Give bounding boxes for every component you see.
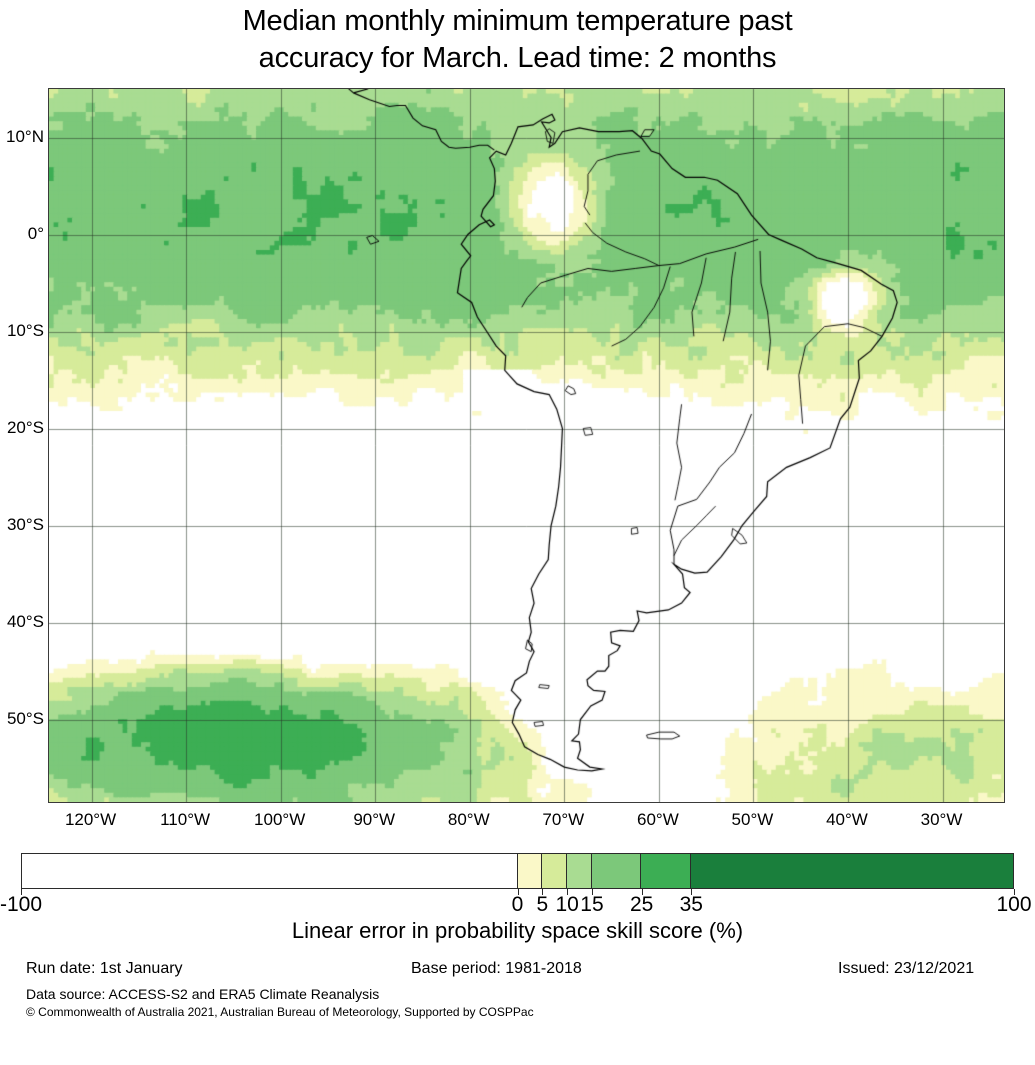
colorbar-tick-label: 25 (630, 893, 653, 917)
copyright-text: © Commonwealth of Australia 2021, Austra… (26, 1005, 534, 1019)
colorbar-tick-label: 10 (555, 893, 578, 917)
colorbar-segment (641, 854, 691, 888)
colorbar-segment (567, 854, 592, 888)
base-period-text: Base period: 1981-2018 (411, 960, 582, 978)
longitude-tick-label: 80°W (448, 810, 490, 830)
page-title: Median monthly minimum temperature past … (0, 0, 1035, 77)
latitude-tick-label: 0° (0, 224, 44, 244)
longitude-tick-label: 110°W (160, 810, 210, 830)
colorbar-tick-label: 0 (512, 893, 524, 917)
colorbar-tick-label: 35 (680, 893, 703, 917)
colorbar-segment (592, 854, 642, 888)
longitude-tick-label: 70°W (542, 810, 584, 830)
footer: Run date: 1st January Base period: 1981-… (0, 960, 1035, 984)
latitude-tick-label: 30°S (0, 515, 44, 535)
colorbar-title: Linear error in probability space skill … (0, 918, 1035, 944)
colorbar-segment (542, 854, 567, 888)
colorbar-segment (691, 854, 1013, 888)
colorbar-segment (518, 854, 543, 888)
longitude-tick-label: 100°W (254, 810, 305, 830)
colorbar-tick-label: 15 (580, 893, 603, 917)
issued-date-text: Issued: 23/12/2021 (838, 960, 974, 978)
colorbar-tick-label: -100 (0, 893, 42, 917)
longitude-tick-label: 50°W (732, 810, 774, 830)
latitude-tick-label: 40°S (0, 612, 44, 632)
footer-meta-row: Run date: 1st January Base period: 1981-… (0, 960, 1035, 984)
skill-score-heatmap (49, 89, 1004, 802)
colorbar-tick-label: 100 (996, 893, 1031, 917)
latitude-tick-label: 20°S (0, 418, 44, 438)
map-plot-area (48, 88, 1005, 803)
longitude-tick-label: 40°W (826, 810, 868, 830)
latitude-tick-label: 10°N (0, 127, 44, 147)
longitude-tick-label: 60°W (637, 810, 679, 830)
run-date-text: Run date: 1st January (26, 960, 183, 978)
colorbar (21, 853, 1014, 889)
longitude-tick-label: 120°W (65, 810, 116, 830)
colorbar-segment (22, 854, 518, 888)
longitude-tick-label: 30°W (921, 810, 963, 830)
colorbar-tick-label: 5 (536, 893, 548, 917)
page-title-line-2: accuracy for March. Lead time: 2 months (0, 40, 1035, 77)
latitude-tick-label: 10°S (0, 321, 44, 341)
latitude-tick-label: 50°S (0, 709, 44, 729)
page-title-line-1: Median monthly minimum temperature past (0, 3, 1035, 40)
data-source-text: Data source: ACCESS-S2 and ERA5 Climate … (26, 986, 379, 1002)
longitude-tick-label: 90°W (353, 810, 395, 830)
